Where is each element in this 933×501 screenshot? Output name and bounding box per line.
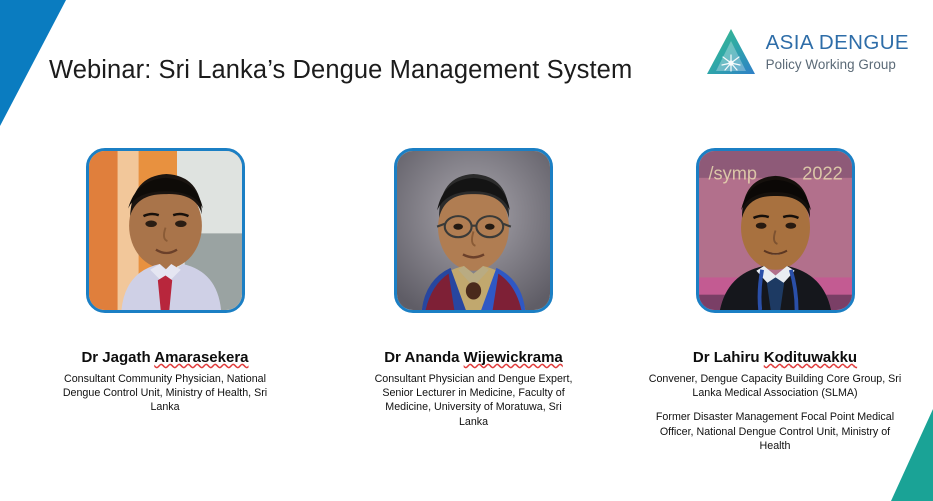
speaker-role-3-secondary: Former Disaster Management Focal Point M… [646,410,904,453]
speakers-row: Dr Jagath Amarasekera Consultant Communi… [0,148,933,453]
photo-lahiru-kodituwakku: /symp 2022 [696,148,855,313]
speaker-name-prefix-3: Dr Lahiru [693,349,764,366]
speaker-role-3: Convener, Dengue Capacity Building Core … [646,372,904,400]
speaker-name-prefix-2: Dr Ananda [384,349,463,366]
asia-dengue-triangle-icon [705,27,757,77]
slide-canvas: Webinar: Sri Lanka’s Dengue Management S… [0,0,933,501]
logo-wordmark: ASIA DENGUE Policy Working Group [766,33,909,71]
photo-ananda-wijewickrama [394,148,553,313]
speaker-card-2: Dr Ananda Wijewickrama Consultant Physic… [330,148,617,453]
logo-line-2: Policy Working Group [766,58,909,71]
speaker-card-3: /symp 2022 [617,148,933,453]
asia-dengue-logo: ASIA DENGUE Policy Working Group [705,27,909,77]
speaker-name-3: Dr Lahiru Kodituwakku [693,349,857,366]
speaker-role-1: Consultant Community Physician, National… [54,372,276,415]
svg-text:2022: 2022 [802,164,842,184]
speaker-surname-2: Wijewickrama [464,349,563,366]
speaker-surname-1: Amarasekera [154,349,248,366]
speaker-name-prefix-1: Dr Jagath [81,349,154,366]
page-title: Webinar: Sri Lanka’s Dengue Management S… [49,56,632,85]
speaker-name-2: Dr Ananda Wijewickrama [384,349,563,366]
logo-line-1: ASIA DENGUE [766,33,909,54]
speaker-role-2: Consultant Physician and Dengue Expert, … [373,372,575,429]
svg-text:/symp: /symp [708,164,757,184]
photo-jagath-amarasekera [86,148,245,313]
speaker-card-1: Dr Jagath Amarasekera Consultant Communi… [0,148,330,453]
speaker-surname-3: Kodituwakku [764,349,857,366]
speaker-name-1: Dr Jagath Amarasekera [81,349,248,366]
